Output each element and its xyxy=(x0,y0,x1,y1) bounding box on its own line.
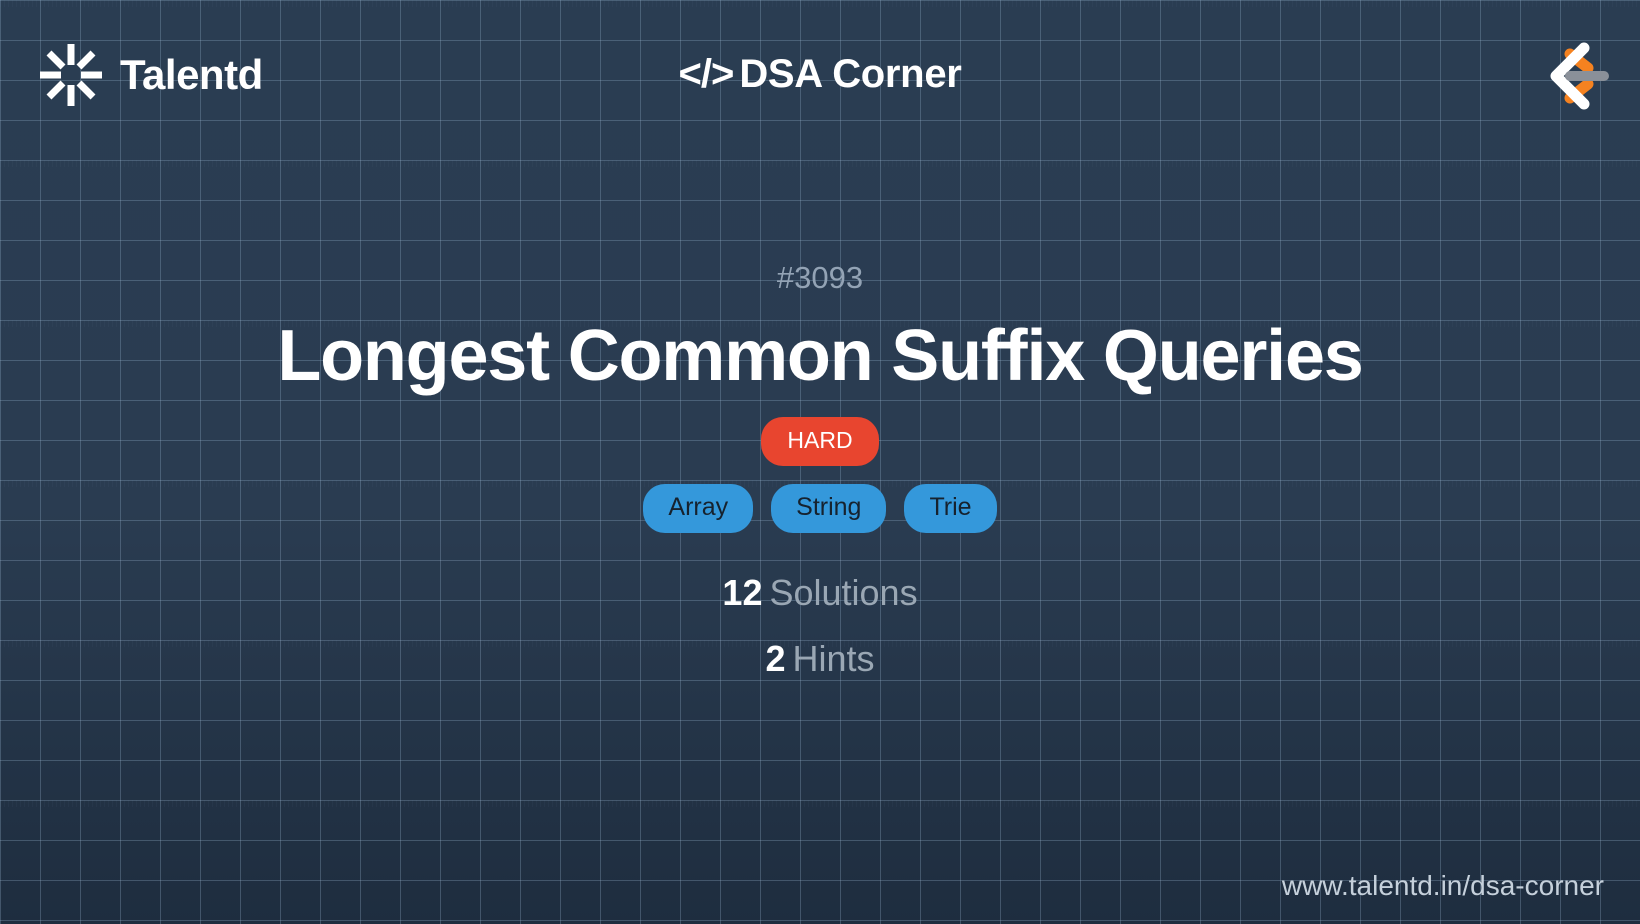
stat-solutions: 12Solutions xyxy=(0,575,1640,611)
problem-title: Longest Common Suffix Queries xyxy=(0,319,1640,395)
difficulty-badge: HARD xyxy=(761,417,878,466)
stat-solutions-label: Solutions xyxy=(769,572,917,613)
tag-pill-string[interactable]: String xyxy=(771,484,886,533)
footer-url[interactable]: www.talentd.in/dsa-corner xyxy=(1282,872,1604,900)
code-brackets-icon: </> xyxy=(678,52,733,96)
page-title: </>DSA Corner xyxy=(0,52,1640,97)
poster-canvas: Talentd </>DSA Corner #3093 Longest Comm… xyxy=(0,0,1640,924)
problem-number: #3093 xyxy=(0,262,1640,293)
stat-solutions-value: 12 xyxy=(722,572,762,613)
tag-pill-array[interactable]: Array xyxy=(643,484,753,533)
page-header: Talentd </>DSA Corner xyxy=(0,0,1640,150)
difficulty-row: HARD xyxy=(0,417,1640,466)
stat-hints-label: Hints xyxy=(793,638,875,679)
problem-card: #3093 Longest Common Suffix Queries HARD… xyxy=(0,262,1640,707)
stat-hints-value: 2 xyxy=(765,638,785,679)
tag-list: Array String Trie xyxy=(0,484,1640,533)
stat-hints: 2Hints xyxy=(0,641,1640,677)
tag-pill-trie[interactable]: Trie xyxy=(904,484,996,533)
page-title-text: DSA Corner xyxy=(739,52,961,96)
